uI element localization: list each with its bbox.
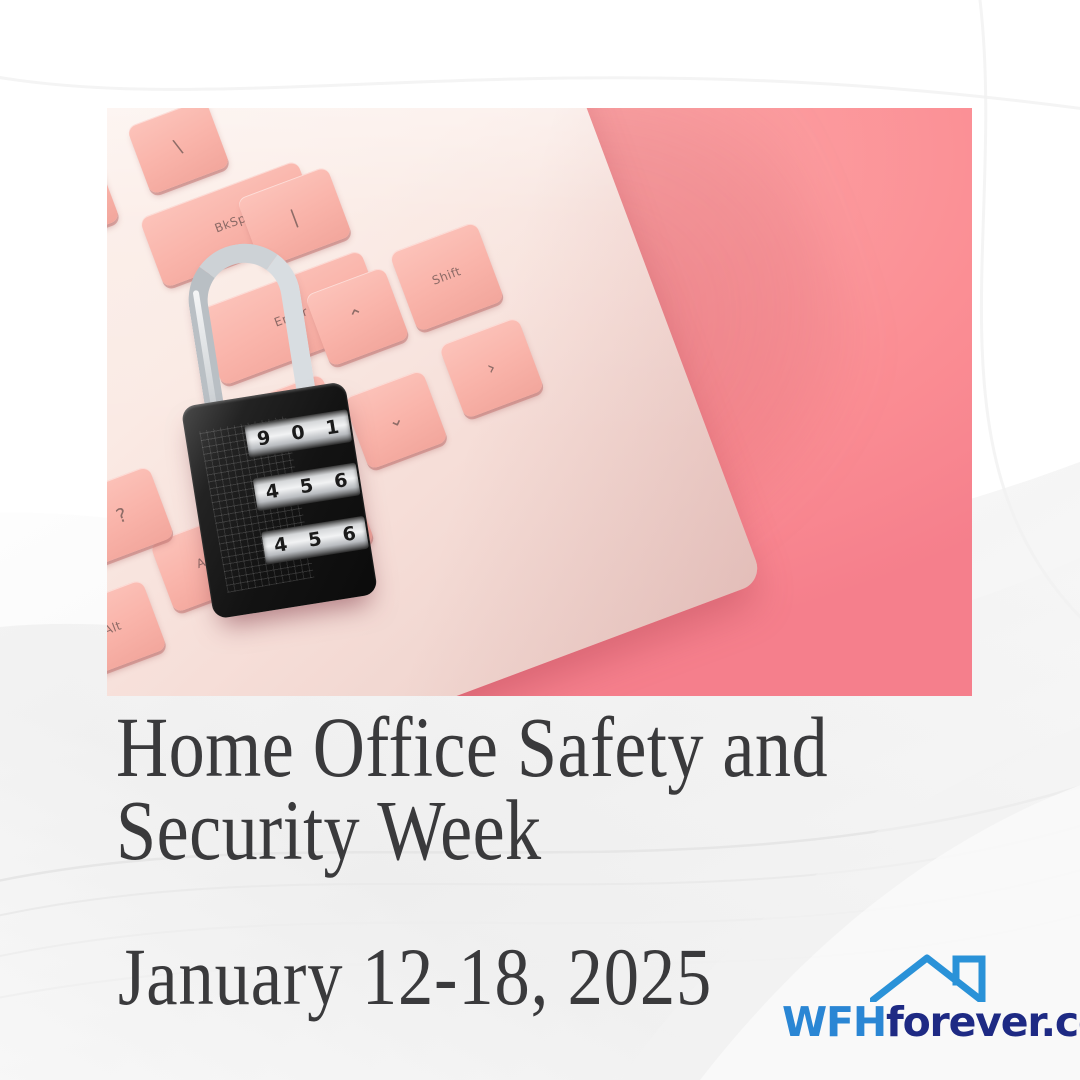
- combination-dial-row-1: 901: [244, 409, 352, 458]
- event-date: January 12-18, 2025: [118, 936, 712, 1018]
- page-title: Home Office Safety and Security Week: [116, 706, 855, 871]
- combination-dial-row-3: 456: [261, 516, 369, 565]
- poster-canvas: DeleteF12F11F10BkSpEnterShiftPrt ScSys R…: [0, 0, 1080, 1080]
- logo-text-wfh: WFH: [782, 998, 886, 1046]
- brand-logo[interactable]: WFHforever.com: [782, 950, 1072, 1050]
- logo-wordmark: WFHforever.com: [782, 1002, 1080, 1043]
- hero-photo: DeleteF12F11F10BkSpEnterShiftPrt ScSys R…: [107, 108, 972, 696]
- padlock-body: 901456456: [181, 381, 379, 619]
- house-roof-icon: [870, 950, 1000, 1002]
- logo-text-forever: forever.com: [886, 998, 1080, 1046]
- combination-dial-row-2: 456: [253, 462, 361, 511]
